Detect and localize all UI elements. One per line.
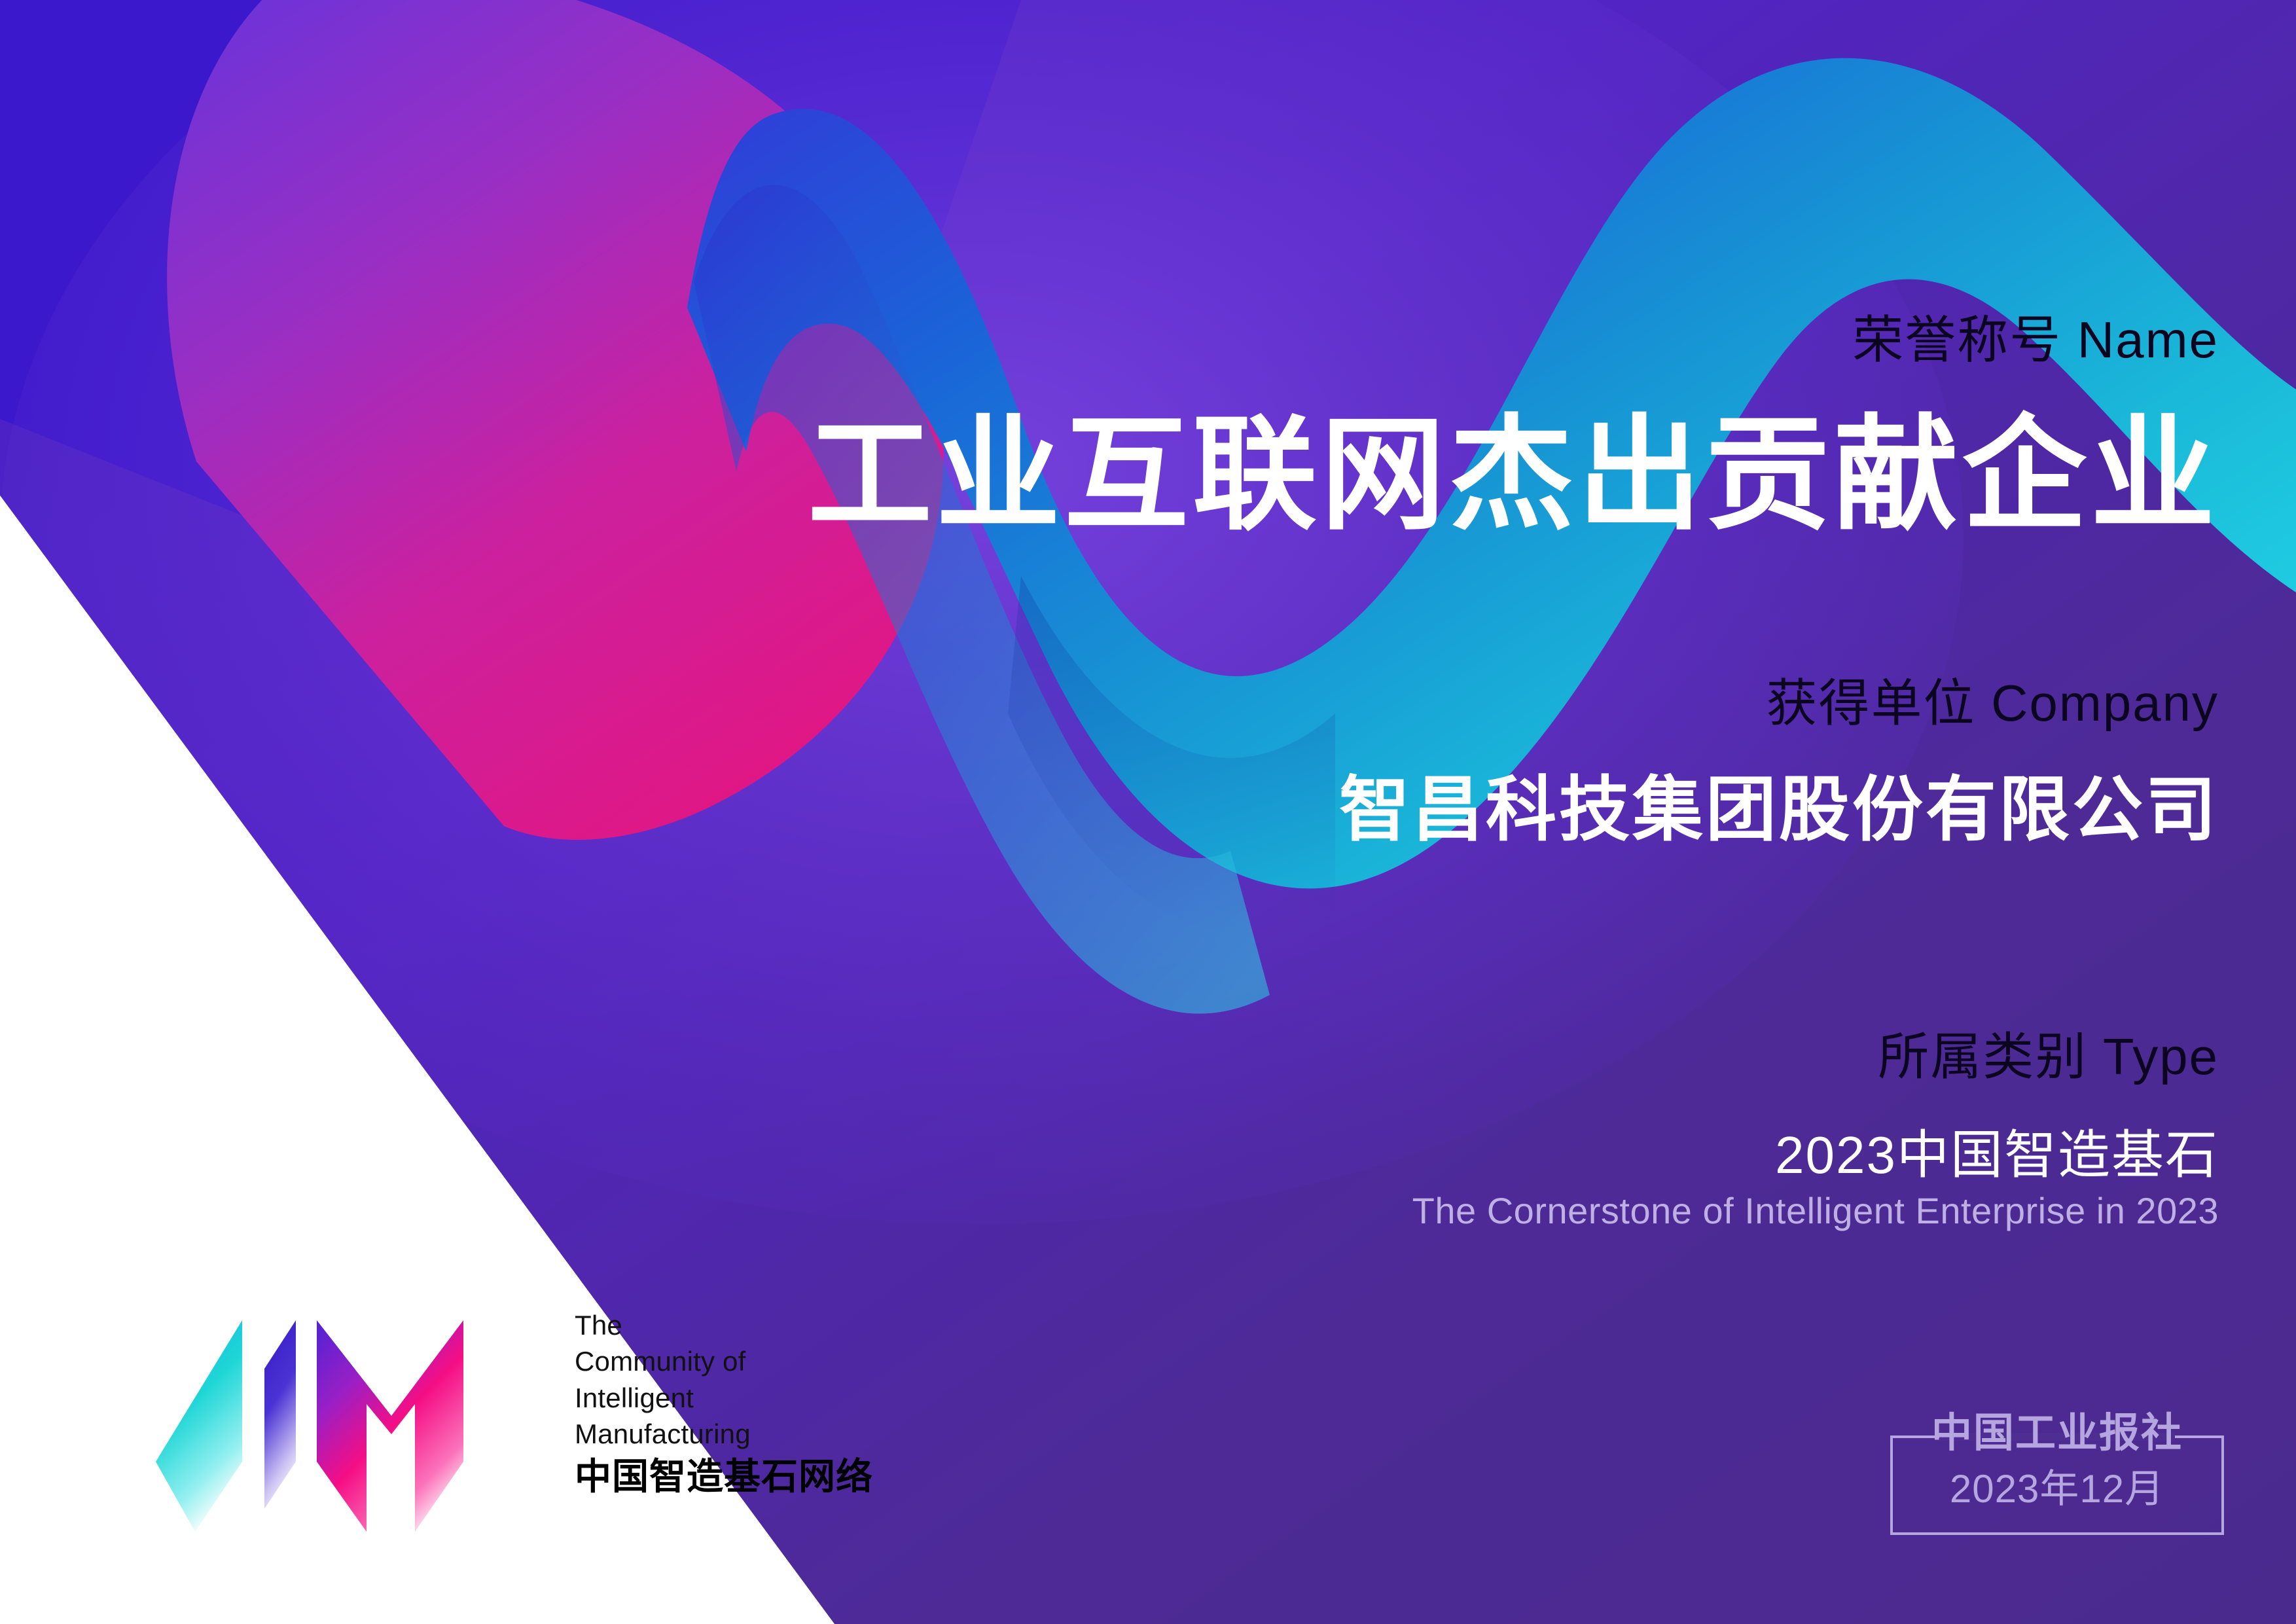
logo-en-line3: Intelligent bbox=[575, 1380, 882, 1416]
issuer-date: 2023年12月 bbox=[1890, 1470, 2224, 1509]
logo-en-line2: Community of bbox=[575, 1343, 882, 1379]
issuer-organization: 中国工业报社 bbox=[1890, 1413, 2224, 1454]
logo-wordmark: The Community of Intelligent Manufacturi… bbox=[575, 1307, 882, 1496]
type-label: 所属类别 Type bbox=[1878, 1031, 2219, 1082]
type-value-chinese: 2023中国智造基石 bbox=[1775, 1129, 2219, 1182]
logo-en-line1: The bbox=[575, 1307, 882, 1343]
honor-title: 工业互联网杰出贡献企业 bbox=[808, 406, 2219, 545]
logo-en-line4: Manufacturing bbox=[575, 1416, 882, 1452]
logo-mark-icon bbox=[156, 1306, 575, 1532]
company-label: 获得单位 Company bbox=[1767, 677, 2219, 729]
organization-logo: The Community of Intelligent Manufacturi… bbox=[156, 1306, 889, 1542]
honor-label: 荣誉称号 Name bbox=[1852, 314, 2219, 365]
certificate-text-column: 荣誉称号 Name 工业互联网杰出贡献企业 获得单位 Company 智昌科技集… bbox=[720, 0, 2219, 1624]
award-certificate: 荣誉称号 Name 工业互联网杰出贡献企业 获得单位 Company 智昌科技集… bbox=[0, 0, 2296, 1624]
logo-chinese-name: 中国智造基石网络 bbox=[575, 1456, 882, 1497]
issuer-badge: 中国工业报社 2023年12月 bbox=[1890, 1435, 2224, 1535]
company-name: 智昌科技集团股份有限公司 bbox=[1339, 769, 2219, 850]
type-value-english: The Cornerstone of Intelligent Enterpris… bbox=[1412, 1193, 2219, 1229]
